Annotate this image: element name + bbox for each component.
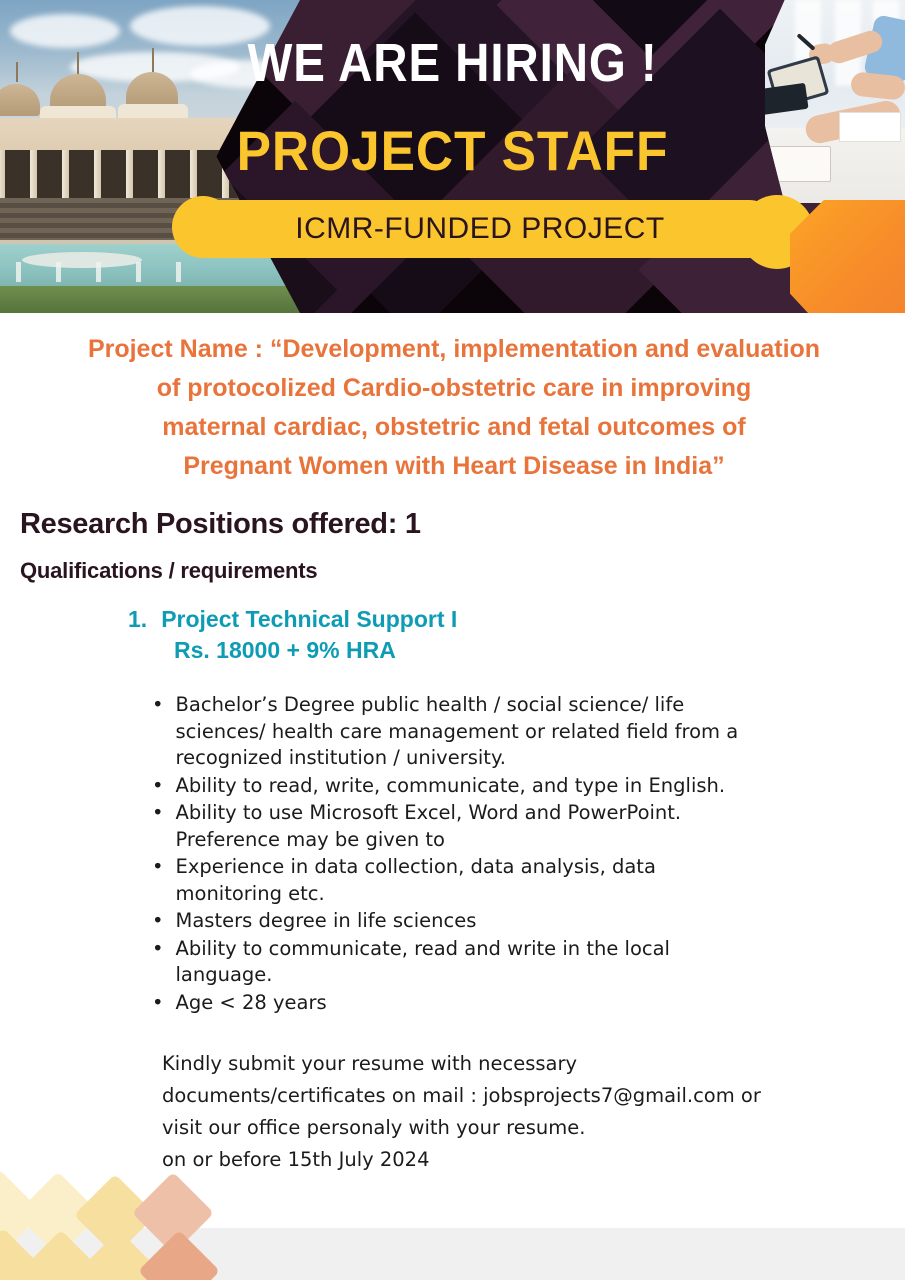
position-number: 1. <box>128 606 147 633</box>
dome-spire <box>16 62 18 82</box>
list-item-text: Masters degree in life sciences <box>176 908 752 935</box>
list-item: • Age < 28 years <box>152 990 752 1017</box>
project-title-line-4: Pregnant Women with Heart Disease in Ind… <box>183 452 724 480</box>
bullet-icon: • <box>152 800 164 853</box>
instruction-line-2: documents/certificates on mail : jobspro… <box>162 1080 862 1112</box>
column <box>0 150 5 198</box>
position-salary: Rs. 18000 + 9% HRA <box>174 637 457 664</box>
instruction-line-3: visit our office personaly with your res… <box>162 1112 862 1144</box>
lawn <box>0 286 300 313</box>
fountain <box>22 252 142 268</box>
bullet-icon: • <box>152 854 164 907</box>
pool-post <box>176 262 181 282</box>
project-title-line-2: of protocolized Cardio-obstetric care in… <box>157 374 752 402</box>
bullet-icon: • <box>152 692 164 772</box>
application-instructions: Kindly submit your resume with necessary… <box>162 1048 862 1176</box>
project-title-line-1: “Development, implementation and evaluat… <box>270 335 820 363</box>
position-title: Project Technical Support I <box>161 606 457 633</box>
list-item: • Ability to read, write, communicate, a… <box>152 773 752 800</box>
application-deadline: on or before 15th July 2024 <box>162 1144 862 1176</box>
list-item-text: Ability to communicate, read and write i… <box>176 936 752 989</box>
position-entry: 1. Project Technical Support I Rs. 18000… <box>128 606 457 664</box>
qualifications-list: • Bachelor’s Degree public health / soci… <box>152 692 752 1017</box>
list-item-text: Age < 28 years <box>176 990 752 1017</box>
bullet-icon: • <box>152 936 164 989</box>
pool-post <box>56 262 61 282</box>
pool-post <box>96 262 101 282</box>
instruction-line-1: Kindly submit your resume with necessary <box>162 1048 862 1080</box>
list-item-text: Experience in data collection, data anal… <box>176 854 752 907</box>
list-item-text: Bachelor’s Degree public health / social… <box>176 692 752 772</box>
project-name-block: Project Name : “Development, implementat… <box>18 330 890 486</box>
positions-offered-heading: Research Positions offered: 1 <box>20 508 421 541</box>
project-title-line-3: maternal cardiac, obstetric and fetal ou… <box>162 413 746 441</box>
funding-badge: ICMR-FUNDED PROJECT <box>182 200 778 258</box>
pool-post <box>16 262 21 282</box>
bullet-icon: • <box>152 990 164 1017</box>
list-item-text: Ability to read, write, communicate, and… <box>176 773 752 800</box>
list-item: • Ability to communicate, read and write… <box>152 936 752 989</box>
position-title-row: 1. Project Technical Support I <box>128 606 457 633</box>
hiring-headline: WE ARE HIRING ! <box>54 32 850 94</box>
staff-headline: PROJECT STAFF <box>36 118 869 183</box>
list-item: • Bachelor’s Degree public health / soci… <box>152 692 752 772</box>
hand <box>850 71 905 101</box>
orange-hexagon <box>790 200 905 313</box>
header-banner: WE ARE HIRING ! PROJECT STAFF ICMR-FUNDE… <box>0 0 905 313</box>
list-item-text: Ability to use Microsoft Excel, Word and… <box>176 800 752 853</box>
hiring-poster: WE ARE HIRING ! PROJECT STAFF ICMR-FUNDE… <box>0 0 905 1280</box>
qualifications-heading: Qualifications / requirements <box>20 558 317 584</box>
list-item: • Ability to use Microsoft Excel, Word a… <box>152 800 752 853</box>
list-item: • Experience in data collection, data an… <box>152 854 752 907</box>
pool-post <box>136 262 141 282</box>
bullet-icon: • <box>152 908 164 935</box>
project-name-label: Project Name : <box>88 335 270 363</box>
list-item: • Masters degree in life sciences <box>152 908 752 935</box>
bullet-icon: • <box>152 773 164 800</box>
